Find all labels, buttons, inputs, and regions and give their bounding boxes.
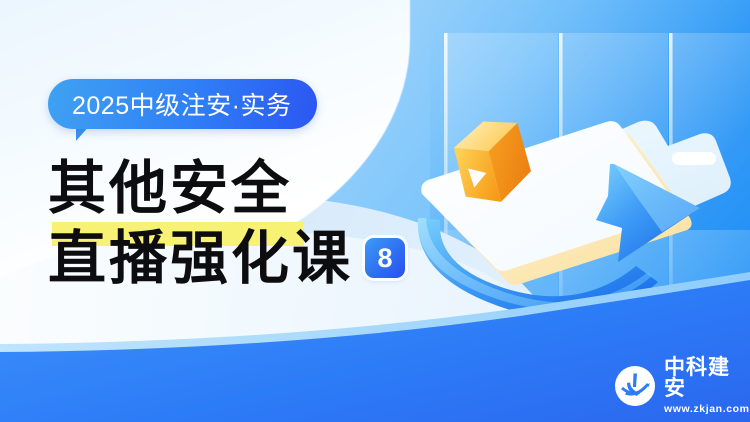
course-category-label: 2025中级注安·实务 — [72, 86, 291, 122]
title-line-1: 其他安全 — [48, 153, 468, 223]
banner-title: 其他安全 直播强化课 8 — [48, 153, 468, 293]
brand-name: 中科建安 — [664, 357, 750, 399]
brand-logo: 中科建安 www.zkjan.com — [614, 357, 750, 415]
course-promo-banner: 2025中级注安·实务 其他安全 直播强化课 8 中科建安 www.zkjan.… — [0, 0, 750, 422]
brand-text: 中科建安 www.zkjan.com — [664, 357, 750, 415]
course-category-badge: 2025中级注安·实务 — [48, 79, 317, 129]
episode-number-badge: 8 — [365, 238, 405, 278]
title-line-2: 直播强化课 — [48, 223, 353, 293]
brand-url: www.zkjan.com — [664, 404, 750, 415]
title-line-2-row: 直播强化课 8 — [48, 223, 468, 293]
zkjan-circle-logo-icon — [614, 365, 656, 407]
